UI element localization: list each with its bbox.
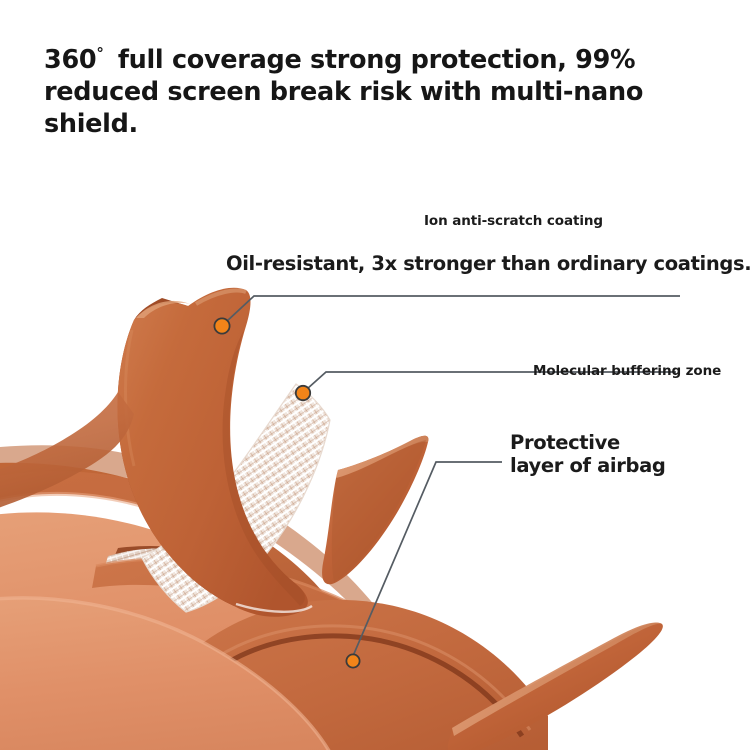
page-title: 360°full coverage strong protection, 99%… (44, 44, 704, 140)
callout-label-airbag-line2: layer of airbag (510, 454, 666, 477)
callout-dot-molecular-buffering-zone[interactable] (296, 386, 310, 400)
headline-line1: 360°full coverage strong protection, 99% (44, 45, 635, 75)
callout-label-airbag-line1: Protective (510, 431, 666, 454)
degree-symbol: ° (96, 45, 104, 63)
callout-label-oil-resistant: Oil-resistant, 3x stronger than ordinary… (226, 252, 750, 275)
callout-label-protective-layer-of-airbag: Protective layer of airbag (510, 431, 666, 477)
callout-label-molecular-buffering-zone: Molecular buffering zone (533, 364, 721, 380)
callout-dot-protective-layer-of-airbag[interactable] (346, 654, 359, 667)
headline-line1-rest: full coverage strong protection, 99% (118, 45, 635, 75)
leader-line-oil (226, 296, 680, 322)
callout-label-ion-anti-scratch-coating: Ion anti-scratch coating (424, 214, 603, 230)
product-infographic: 360°full coverage strong protection, 99%… (0, 0, 750, 750)
headline-line2: reduced screen break risk with multi-nan… (44, 77, 643, 139)
headline-360: 360 (44, 45, 96, 75)
callout-dot-oil-resistant[interactable] (214, 318, 229, 333)
